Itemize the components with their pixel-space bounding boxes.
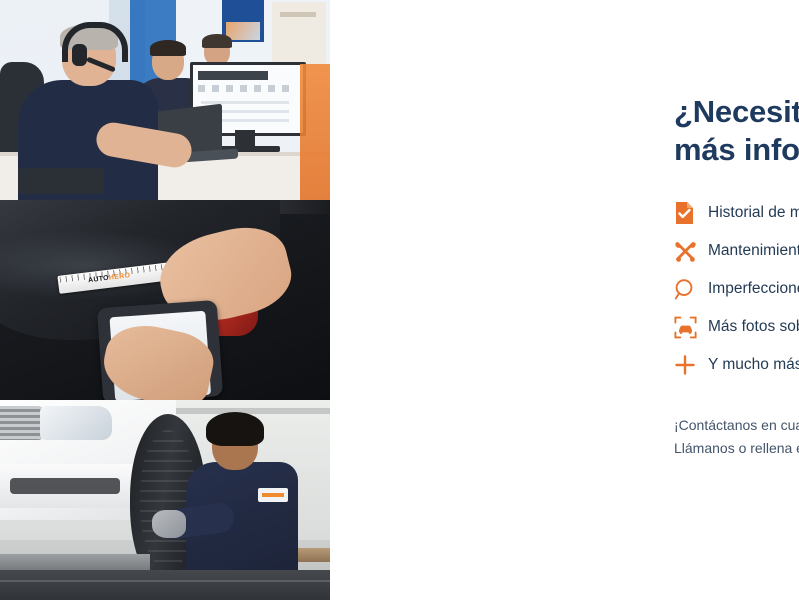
feature-label: Mantenimiento realizado [708,242,799,260]
feature-item-mucho-mas: Y mucho más [674,346,799,384]
car-lift-platform [0,554,150,570]
orange-equipment [300,64,330,200]
car-headlight [40,406,112,440]
autohero-logo-suffix: HERO [109,272,131,282]
monitor-screen-dots [198,85,293,92]
headline-line-2: más información? [674,131,799,169]
car-inspection-ruler-tablet-photo: AUTOHERO [0,200,330,400]
contact-line-1: ¡Contáctanos en cualquier momento para m… [674,414,799,437]
page-title: ¿Necesitas más información? [674,93,799,169]
mechanic-glove [152,510,186,538]
crossed-tools-icon [674,240,708,263]
feature-item-historial: Historial de mantenimientos [674,194,799,232]
mechanic-tyre-inspection-photo [0,400,330,600]
information-banner: AUTOHERO [0,0,799,600]
background-agent-3-hair [202,34,232,48]
feature-label: Imperfecciones [708,280,799,298]
car-frame-icon [674,316,708,339]
photo-column: AUTOHERO [0,0,330,600]
headset-earcup [72,44,87,66]
feature-label: Historial de mantenimientos [708,204,799,222]
background-agent-2-hair [150,40,186,56]
feature-label: Y mucho más [708,356,799,374]
feature-list: Historial de mantenimientos M [674,194,799,384]
headline-line-1: ¿Necesitas [674,94,799,129]
autohero-logo-prefix: AUTO [88,275,110,284]
content-panel: ¿Necesitas más información? Estamos enca… [330,0,799,600]
mechanic-hair [206,412,264,446]
plus-icon [674,354,708,376]
feature-label: Más fotos sobre el coche [708,318,799,336]
workshop-cabinet [0,570,330,600]
feature-item-fotos: Más fotos sobre el coche [674,308,799,346]
call-center-agent-headset-photo [0,0,330,200]
feature-item-mantenimiento: Mantenimiento realizado [674,232,799,270]
car-grille [0,406,44,440]
monitor-screen-bar [198,71,268,80]
feature-item-imperfecciones: Imperfecciones [674,270,799,308]
contact-line-2: Llámanos o rellena el formulario de cont… [674,437,799,460]
document-check-icon [674,201,708,225]
contact-text: ¡Contáctanos en cualquier momento para m… [674,414,799,459]
desk-tablet [18,168,104,194]
magnifier-icon [674,278,708,301]
mechanic-uniform-logo [258,488,288,502]
